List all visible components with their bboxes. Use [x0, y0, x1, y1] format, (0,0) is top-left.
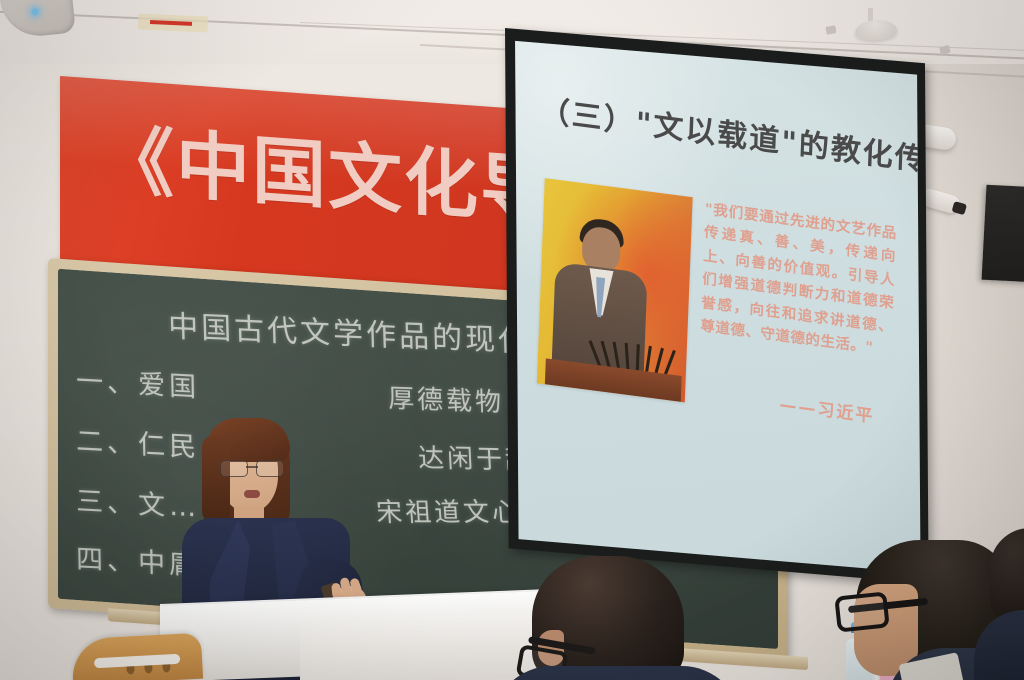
audience-member-front-left: [532, 556, 702, 680]
chalk-line-1: 一、爱国: [76, 359, 201, 405]
projection-screen: （三）"文以载道"的教化传统 "我们: [505, 28, 929, 584]
slide-quote-text: "我们要通过先进的文艺作品传递真、善、美，传递向上、向善的价值观。引导人们增强道…: [700, 199, 897, 364]
projection-screen-surface: （三）"文以载道"的教化传统 "我们: [515, 41, 920, 573]
wall-display-panel: [982, 185, 1024, 283]
lecturer-glasses-icon: [220, 460, 284, 476]
ceiling-hook-icon: [825, 25, 836, 35]
led-indicator-icon: [31, 8, 39, 16]
lecturer-mouth: [244, 490, 260, 498]
audience-2-glasses-icon: [834, 591, 889, 632]
slide-attribution: ——习近平: [779, 390, 920, 433]
ceiling-sign: [138, 13, 209, 32]
lecturer-hair-side: [202, 436, 230, 526]
audience-member-far-right: [990, 528, 1024, 680]
slide-speaker-photo: [537, 178, 693, 402]
chalk-note-3: 宋祖道文心: [375, 492, 522, 529]
classroom-photo-scene: 《中国文化导论》 中国古代文学作品的现代文化价值 一、爱国 二、仁民 三、文… …: [0, 0, 1024, 680]
